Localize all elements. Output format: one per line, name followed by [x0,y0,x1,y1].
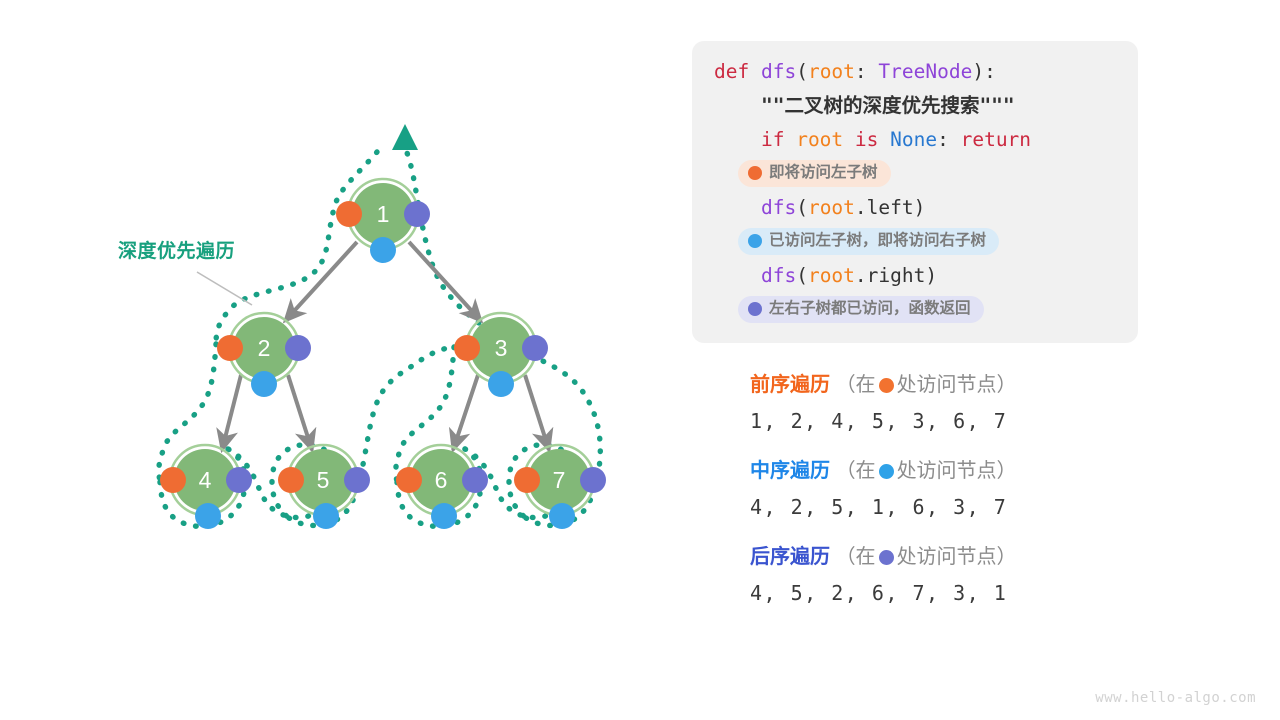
postorder-marker-dot [404,201,430,227]
inorder-marker-dot [549,503,575,529]
preorder-marker-dot [160,467,186,493]
inorder-marker-dot [195,503,221,529]
code-line: dfs(root.right) [692,259,1138,293]
traversal-block-inorder: 中序遍历 （在处访问节点） 4, 2, 5, 1, 6, 3, 7 [750,456,1220,528]
watermark: www.hello-algo.com [1095,690,1256,706]
tree-diagram-panel: 1 2 3 [0,0,670,720]
traversal-name: 中序遍历 [750,460,830,482]
traversal-heading: 后序遍历 （在处访问节点） [750,542,1220,572]
code-line: if root is None: return [692,123,1138,157]
traversal-sequence: 4, 2, 5, 1, 6, 3, 7 [750,486,1220,528]
code-line: def dfs(root: TreeNode): [692,55,1138,89]
postorder-marker-dot [226,467,252,493]
code-line: 左右子树都已访问，函数返回 [692,293,1138,327]
postorder-comment-badge: 左右子树都已访问，函数返回 [738,296,984,323]
edge-1-3 [409,242,481,321]
node-label: 6 [435,467,448,493]
postorder-marker-dot [522,335,548,361]
docstring-text: ""二叉树的深度优先搜索""" [714,94,1015,117]
node-label: 2 [258,335,271,361]
tree-node-5[interactable]: 5 [278,445,370,529]
traversal-sequence: 4, 5, 2, 6, 7, 3, 1 [750,572,1220,614]
badge-label: 已访问左子树，即将访问右子树 [769,230,986,252]
dfs-entry-arrow-icon [392,124,418,150]
badge-label: 即将访问左子树 [769,162,878,184]
traversal-paren-open: （在 [836,546,876,568]
inorder-marker-dot [251,371,277,397]
preorder-dot-icon [748,166,762,180]
annotation-leader-line [197,272,252,305]
code-line: dfs(root.left) [692,191,1138,225]
edge-2-5 [288,375,312,450]
code-line: 即将访问左子树 [692,157,1138,191]
edge-3-6 [453,375,478,450]
preorder-marker-dot [217,335,243,361]
preorder-marker-dot [278,467,304,493]
edge-3-7 [525,375,549,450]
postorder-marker-dot [462,467,488,493]
preorder-dot-icon [879,378,894,393]
tree-nodes: 1 2 3 [160,179,606,529]
node-label: 4 [199,467,212,493]
traversal-paren-close: 处访问节点） [897,374,1017,396]
postorder-marker-dot [344,467,370,493]
traversal-paren-close: 处访问节点） [897,546,1017,568]
node-label: 5 [317,467,330,493]
tree-node-3[interactable]: 3 [454,313,548,397]
code-card: def dfs(root: TreeNode): ""二叉树的深度优先搜索"""… [692,41,1138,343]
inorder-marker-dot [488,371,514,397]
traversal-name: 后序遍历 [750,546,830,568]
traversal-heading: 中序遍历 （在处访问节点） [750,456,1220,486]
inorder-marker-dot [370,237,396,263]
code-line: ""二叉树的深度优先搜索""" [692,89,1138,123]
badge-label: 左右子树都已访问，函数返回 [769,298,971,320]
code-line: 已访问左子树，即将访问右子树 [692,225,1138,259]
traversal-heading: 前序遍历 （在处访问节点） [750,370,1220,400]
traversal-block-preorder: 前序遍历 （在处访问节点） 1, 2, 4, 5, 3, 6, 7 [750,370,1220,442]
traversal-results: 前序遍历 （在处访问节点） 1, 2, 4, 5, 3, 6, 7 中序遍历 （… [750,370,1220,628]
traversal-paren-open: （在 [836,460,876,482]
node-label: 3 [495,335,508,361]
postorder-dot-icon [748,302,762,316]
preorder-marker-dot [454,335,480,361]
traversal-paren-open: （在 [836,374,876,396]
postorder-marker-dot [580,467,606,493]
traversal-block-postorder: 后序遍历 （在处访问节点） 4, 5, 2, 6, 7, 3, 1 [750,542,1220,614]
inorder-comment-badge: 已访问左子树，即将访问右子树 [738,228,999,255]
preorder-comment-badge: 即将访问左子树 [738,160,891,187]
node-label: 7 [553,467,566,493]
inorder-marker-dot [431,503,457,529]
preorder-marker-dot [336,201,362,227]
inorder-dot-icon [748,234,762,248]
traversal-name: 前序遍历 [750,374,830,396]
postorder-marker-dot [285,335,311,361]
inorder-marker-dot [313,503,339,529]
postorder-dot-icon [879,550,894,565]
inorder-dot-icon [879,464,894,479]
binary-tree-svg: 1 2 3 [0,0,670,720]
dfs-annotation-label: 深度优先遍历 [118,236,235,263]
tree-node-2[interactable]: 2 [217,313,311,397]
preorder-marker-dot [514,467,540,493]
node-label: 1 [377,201,390,227]
traversal-sequence: 1, 2, 4, 5, 3, 6, 7 [750,400,1220,442]
edge-2-4 [222,375,241,450]
preorder-marker-dot [396,467,422,493]
edge-1-2 [285,242,357,321]
traversal-paren-close: 处访问节点） [897,460,1017,482]
